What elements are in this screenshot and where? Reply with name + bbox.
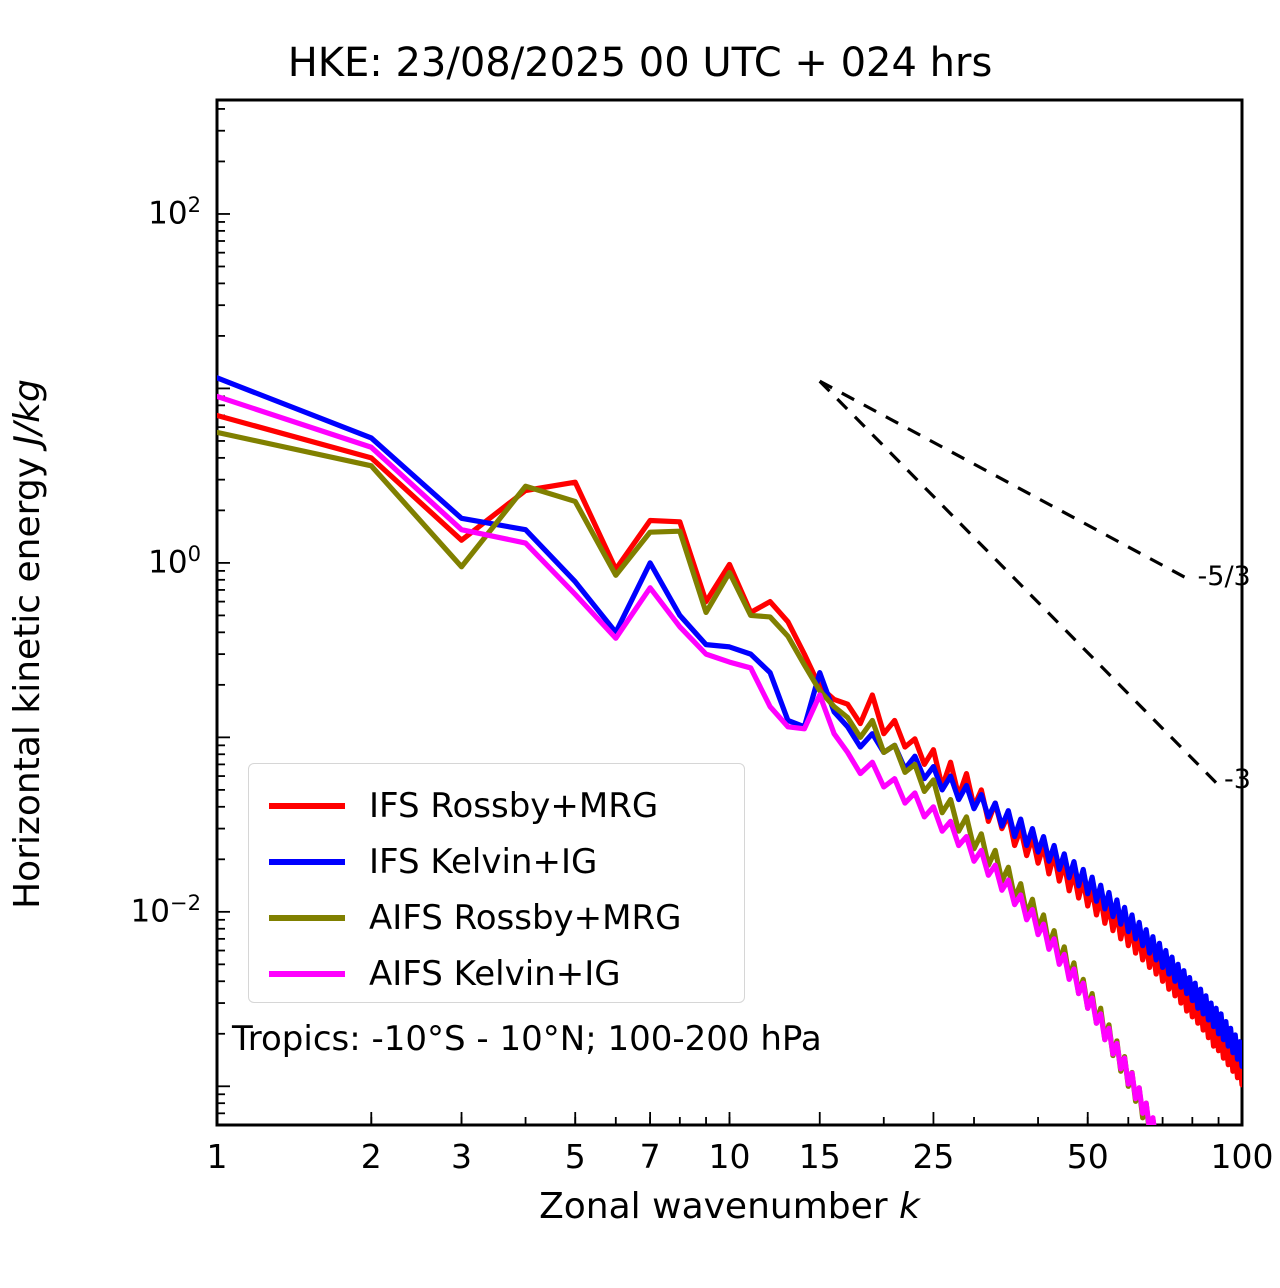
x-tick-label: 5 — [565, 1137, 586, 1176]
region-annotation: Tropics: -10°S - 10°N; 100-200 hPa — [232, 1019, 822, 1059]
y-tick-label: 10−2 — [105, 890, 201, 929]
legend-color-swatch — [269, 803, 345, 809]
y-tick-mantissa: 10 — [148, 544, 187, 580]
y-tick-exponent: −2 — [170, 890, 201, 915]
x-tick-label: 15 — [799, 1137, 841, 1176]
legend-color-swatch — [269, 971, 345, 977]
y-tick-exponent: 0 — [188, 541, 201, 566]
y-tick-exponent: 2 — [188, 192, 201, 217]
legend-item[interactable]: AIFS Rossby+MRG — [249, 890, 744, 946]
y-tick-mantissa: 10 — [130, 893, 169, 929]
y-tick-mantissa: 10 — [148, 195, 187, 231]
x-tick-label: 100 — [1211, 1137, 1274, 1176]
legend-color-swatch — [269, 859, 345, 865]
x-tick-label: 25 — [912, 1137, 954, 1176]
legend-color-swatch — [269, 915, 345, 921]
reference-line--5-3 — [820, 381, 1190, 580]
legend-item-label: IFS Rossby+MRG — [369, 786, 658, 826]
slope-label--5-3: -5/3 — [1198, 561, 1251, 592]
y-tick-label: 100 — [105, 541, 201, 580]
chart-legend[interactable]: IFS Rossby+MRGIFS Kelvin+IGAIFS Rossby+M… — [248, 763, 745, 1003]
legend-item-label: AIFS Rossby+MRG — [369, 898, 681, 938]
y-tick-label: 102 — [105, 192, 201, 231]
x-tick-label: 50 — [1067, 1137, 1109, 1176]
legend-item[interactable]: AIFS Kelvin+IG — [249, 946, 744, 1002]
legend-item-label: IFS Kelvin+IG — [369, 842, 597, 882]
legend-item-label: AIFS Kelvin+IG — [369, 954, 621, 994]
x-tick-label: 2 — [361, 1137, 382, 1176]
legend-item[interactable]: IFS Rossby+MRG — [249, 778, 744, 834]
chart-figure: HKE: 23/08/2025 00 UTC + 024 hrs Horizon… — [0, 0, 1280, 1288]
x-tick-label: 1 — [207, 1137, 228, 1176]
x-tick-label: 7 — [640, 1137, 661, 1176]
legend-item[interactable]: IFS Kelvin+IG — [249, 834, 744, 890]
x-tick-label: 10 — [709, 1137, 751, 1176]
x-tick-label: 3 — [451, 1137, 472, 1176]
slope-label--3: -3 — [1224, 764, 1251, 795]
